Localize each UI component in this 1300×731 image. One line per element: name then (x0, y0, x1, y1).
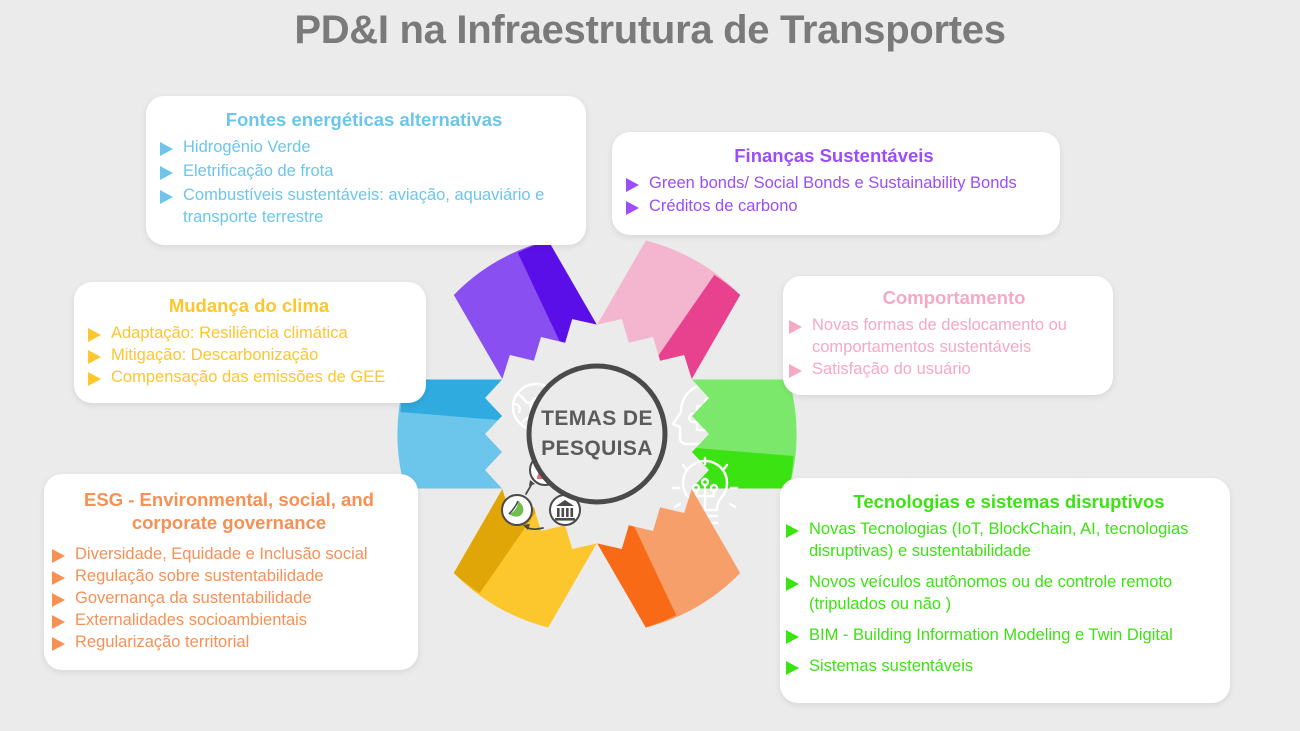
bullet-list: Novas formas de deslocamento ou comporta… (789, 315, 1097, 381)
list-item-label: Externalidades socioambientais (75, 610, 402, 632)
list-item-label: Green bonds/ Social Bonds e Sustainabili… (649, 173, 1042, 195)
triangle-bullet-icon (52, 615, 65, 629)
list-item-label: Mitigação: Descarbonização (111, 345, 410, 367)
list-item: Combustíveis sustentáveis: aviação, aqua… (160, 185, 568, 229)
list-item: Green bonds/ Social Bonds e Sustainabili… (626, 173, 1042, 195)
list-item: Externalidades socioambientais (52, 610, 402, 632)
list-item: Governança da sustentabilidade (52, 588, 402, 610)
card-financas-sustentaveis[interactable]: Finanças Sustentáveis Green bonds/ Socia… (612, 132, 1060, 235)
list-item-label: Créditos de carbono (649, 196, 1042, 218)
triangle-bullet-icon (52, 593, 65, 607)
list-item: Sistemas sustentáveis (786, 656, 1212, 678)
triangle-bullet-icon (786, 661, 799, 675)
list-item-label: BIM - Building Information Modeling e Tw… (809, 625, 1212, 647)
list-item: BIM - Building Information Modeling e Tw… (786, 625, 1212, 647)
list-item: Novas formas de deslocamento ou comporta… (789, 315, 1097, 359)
triangle-bullet-icon (160, 190, 173, 204)
list-item-label: Eletrificação de frota (183, 161, 568, 183)
card-mudanca-do-clima[interactable]: Mudança do clima Adaptação: Resiliência … (74, 282, 426, 403)
infographic-canvas: PD&I na Infraestrutura de Transportes (0, 0, 1300, 731)
triangle-bullet-icon (88, 350, 101, 364)
page-title: PD&I na Infraestrutura de Transportes (0, 8, 1300, 53)
triangle-bullet-icon (789, 364, 802, 378)
list-item-label: Governança da sustentabilidade (75, 588, 402, 610)
triangle-bullet-icon (52, 571, 65, 585)
bullet-list: Diversidade, Equidade e Inclusão social … (52, 544, 402, 654)
card-esg[interactable]: ESG - Environmental, social, and corpora… (44, 474, 418, 670)
central-wheel (385, 222, 809, 646)
list-item: Créditos de carbono (626, 196, 1042, 218)
list-item-label: Combustíveis sustentáveis: aviação, aqua… (183, 185, 568, 229)
list-item: Compensação das emissões de GEE (88, 367, 410, 389)
triangle-bullet-icon (789, 320, 802, 334)
bullet-list: Green bonds/ Social Bonds e Sustainabili… (626, 173, 1042, 218)
list-item-label: Regularização territorial (75, 632, 402, 654)
list-item: Eletrificação de frota (160, 161, 568, 183)
list-item-label: Regulação sobre sustentabilidade (75, 566, 402, 588)
card-title: Fontes energéticas alternativas (160, 108, 568, 131)
card-title: ESG - Environmental, social, and corpora… (56, 488, 402, 534)
triangle-bullet-icon (786, 577, 799, 591)
card-title: Finanças Sustentáveis (626, 144, 1042, 167)
card-title: Tecnologias e sistemas disruptivos (806, 490, 1212, 513)
list-item: Diversidade, Equidade e Inclusão social (52, 544, 402, 566)
list-item-label: Sistemas sustentáveis (809, 656, 1212, 678)
list-item: Novas Tecnologias (IoT, BlockChain, AI, … (786, 519, 1212, 563)
triangle-bullet-icon (160, 142, 173, 156)
card-fontes-energeticas[interactable]: Fontes energéticas alternativas Hidrogên… (146, 96, 586, 245)
list-item: Regularização territorial (52, 632, 402, 654)
triangle-bullet-icon (52, 549, 65, 563)
list-item: Mitigação: Descarbonização (88, 345, 410, 367)
list-item-label: Hidrogênio Verde (183, 137, 568, 159)
triangle-bullet-icon (786, 630, 799, 644)
triangle-bullet-icon (160, 166, 173, 180)
list-item: Regulação sobre sustentabilidade (52, 566, 402, 588)
card-title: Mudança do clima (88, 294, 410, 317)
list-item: Novos veículos autônomos ou de controle … (786, 572, 1212, 616)
list-item: Satisfação do usuário (789, 359, 1097, 381)
list-item-label: Satisfação do usuário (812, 359, 1097, 381)
triangle-bullet-icon (626, 178, 639, 192)
list-item: Hidrogênio Verde (160, 137, 568, 159)
triangle-bullet-icon (88, 328, 101, 342)
card-title: Comportamento (811, 286, 1097, 309)
list-item-label: Compensação das emissões de GEE (111, 367, 410, 389)
triangle-bullet-icon (88, 372, 101, 386)
list-item-label: Novos veículos autônomos ou de controle … (809, 572, 1212, 616)
list-item-label: Diversidade, Equidade e Inclusão social (75, 544, 402, 566)
triangle-bullet-icon (52, 637, 65, 651)
bullet-list: Novas Tecnologias (IoT, BlockChain, AI, … (786, 519, 1212, 678)
bullet-list: Adaptação: Resiliência climática Mitigaç… (88, 323, 410, 389)
list-item-label: Adaptação: Resiliência climática (111, 323, 410, 345)
center-ring (529, 366, 665, 502)
list-item: Adaptação: Resiliência climática (88, 323, 410, 345)
triangle-bullet-icon (626, 201, 639, 215)
list-item-label: Novas Tecnologias (IoT, BlockChain, AI, … (809, 519, 1212, 563)
bullet-list: Hidrogênio Verde Eletrificação de frota … (160, 137, 568, 229)
card-tecnologias-disruptivas[interactable]: Tecnologias e sistemas disruptivos Novas… (780, 478, 1230, 703)
triangle-bullet-icon (786, 524, 799, 538)
card-comportamento[interactable]: Comportamento Novas formas de deslocamen… (783, 276, 1113, 395)
list-item-label: Novas formas de deslocamento ou comporta… (812, 315, 1097, 359)
